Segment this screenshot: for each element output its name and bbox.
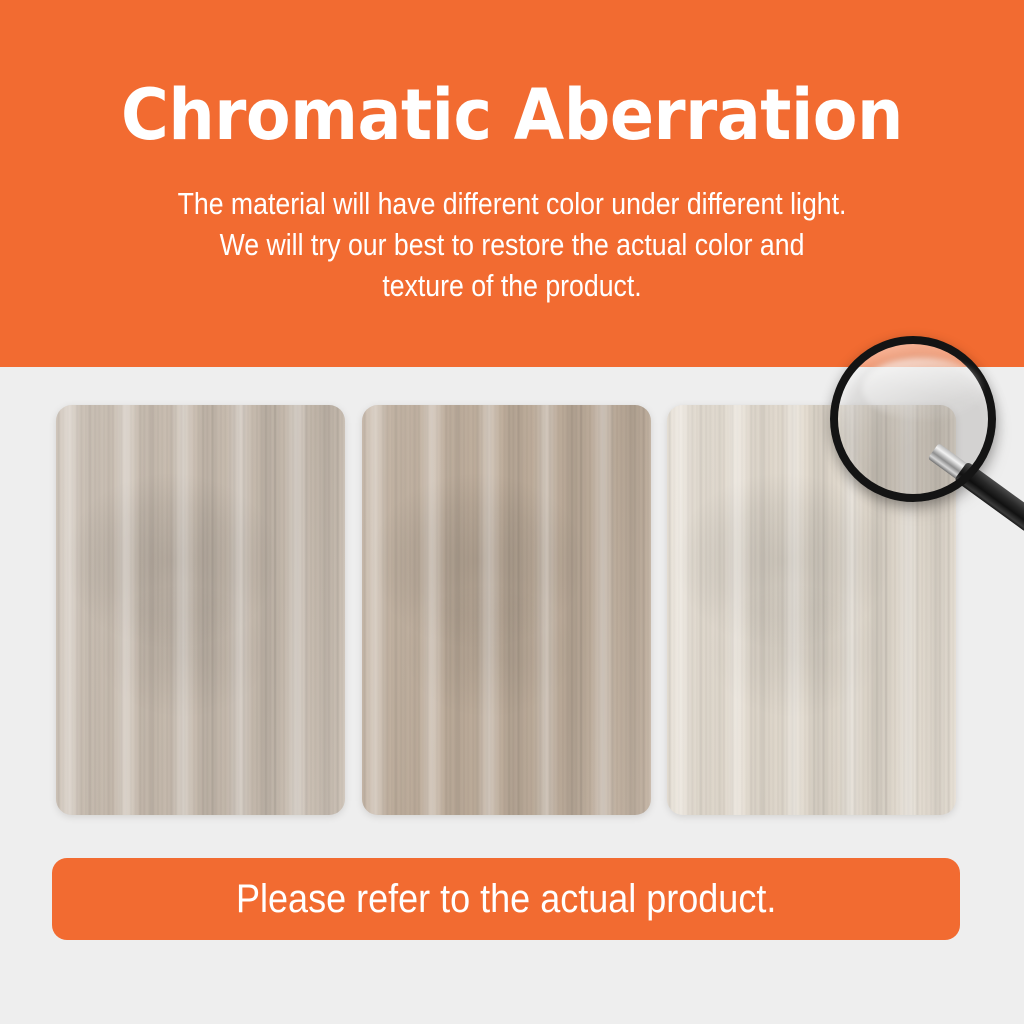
subtitle-line-2: We will try our best to restore the actu… xyxy=(72,224,953,265)
subtitle-line-1: The material will have different color u… xyxy=(72,183,953,224)
wood-grain-texture xyxy=(56,405,345,815)
wood-swatch-right xyxy=(667,405,956,815)
footer-banner: Please refer to the actual product. xyxy=(52,858,960,940)
subtitle-line-3: texture of the product. xyxy=(72,265,953,306)
footer-banner-text: Please refer to the actual product. xyxy=(236,877,776,921)
header-band: Chromatic Aberration The material will h… xyxy=(0,0,1024,367)
wood-grain-texture xyxy=(667,405,956,815)
magnifier-grip xyxy=(954,461,1024,536)
page-title: Chromatic Aberration xyxy=(36,76,988,154)
wood-swatch-row xyxy=(56,405,956,815)
wood-grain-texture xyxy=(362,405,651,815)
wood-swatch-center xyxy=(362,405,651,815)
header-subtitle: The material will have different color u… xyxy=(0,183,1024,306)
infographic-page: Chromatic Aberration The material will h… xyxy=(0,0,1024,1024)
wood-swatch-left xyxy=(56,405,345,815)
